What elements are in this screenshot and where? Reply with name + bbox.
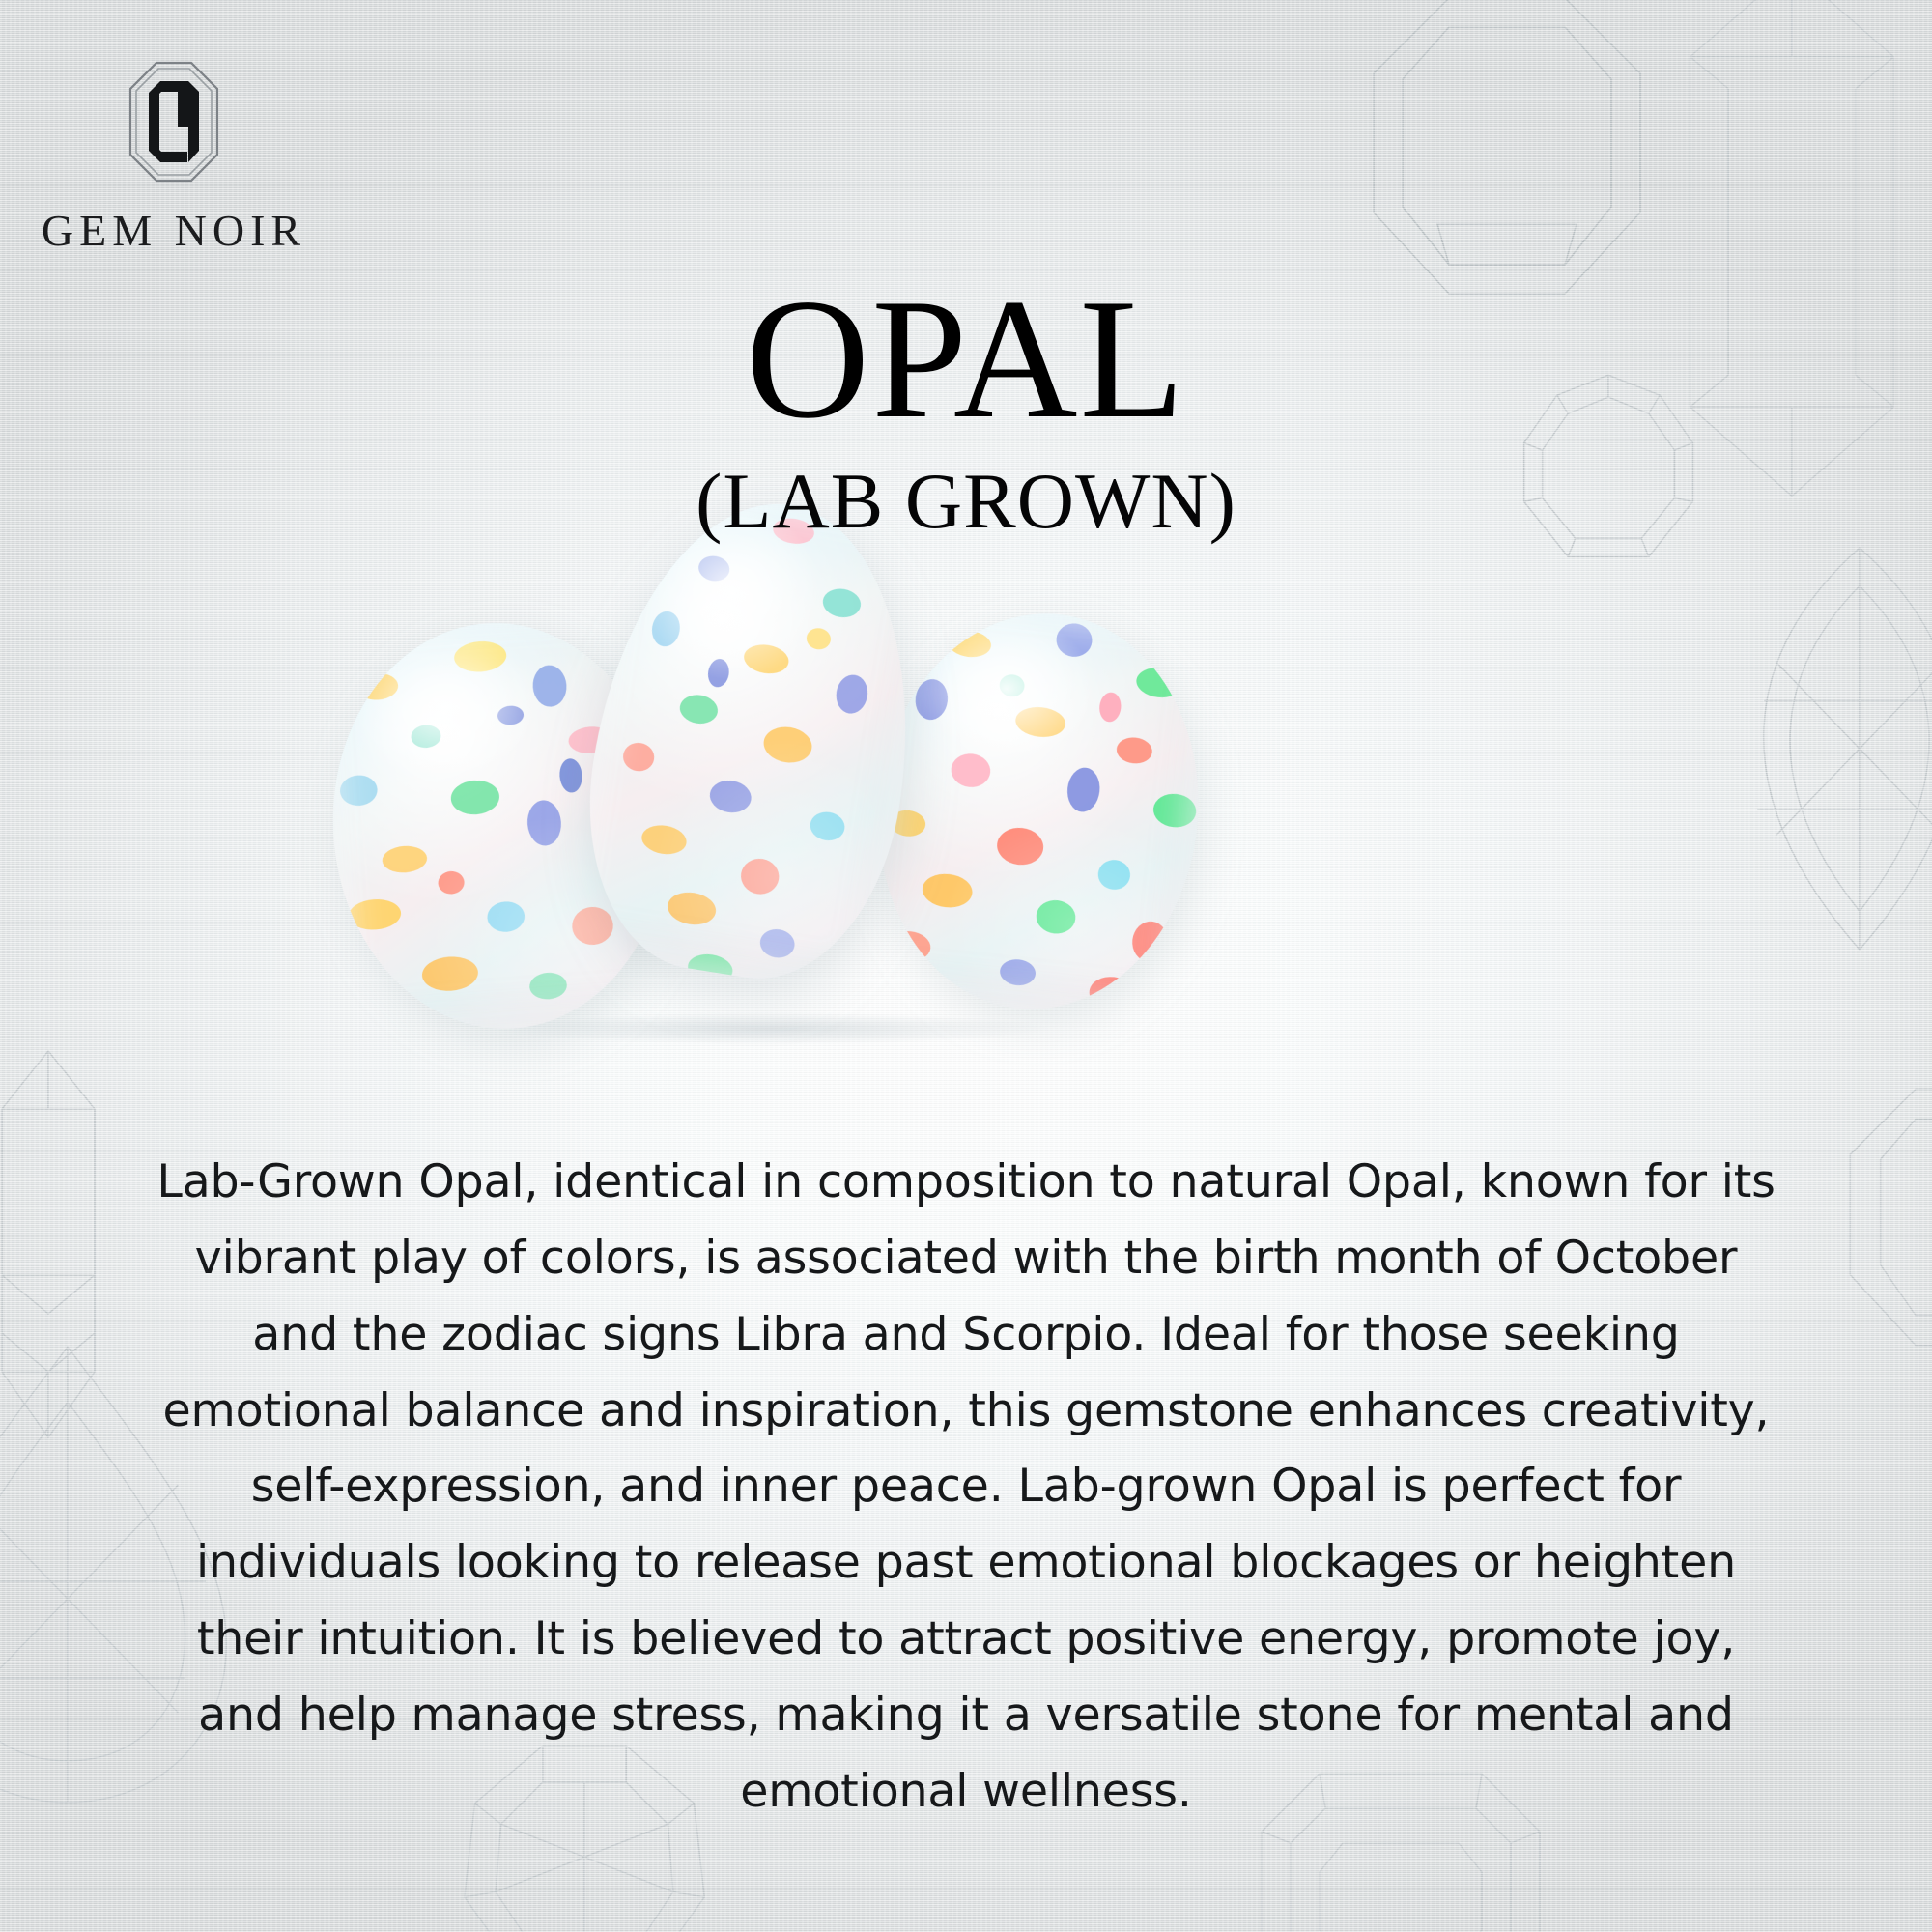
- product-description: Lab-Grown Opal, identical in composition…: [150, 1145, 1782, 1831]
- gem-monogram-gn-icon: [128, 60, 220, 184]
- page-title: OPAL: [0, 272, 1932, 444]
- brand-logo: GEM NOIR: [39, 60, 309, 256]
- product-image-opal-cabochons: [0, 628, 1932, 1130]
- page-subtitle: (LAB GROWN): [0, 462, 1932, 541]
- octagon-gem-watermark-icon: [1362, 0, 1652, 305]
- heading-block: OPAL (LAB GROWN): [0, 272, 1932, 541]
- brand-wordmark: GEM NOIR: [42, 205, 306, 256]
- poster-canvas: GEM NOIR OPAL (LAB GROWN): [0, 0, 1932, 1932]
